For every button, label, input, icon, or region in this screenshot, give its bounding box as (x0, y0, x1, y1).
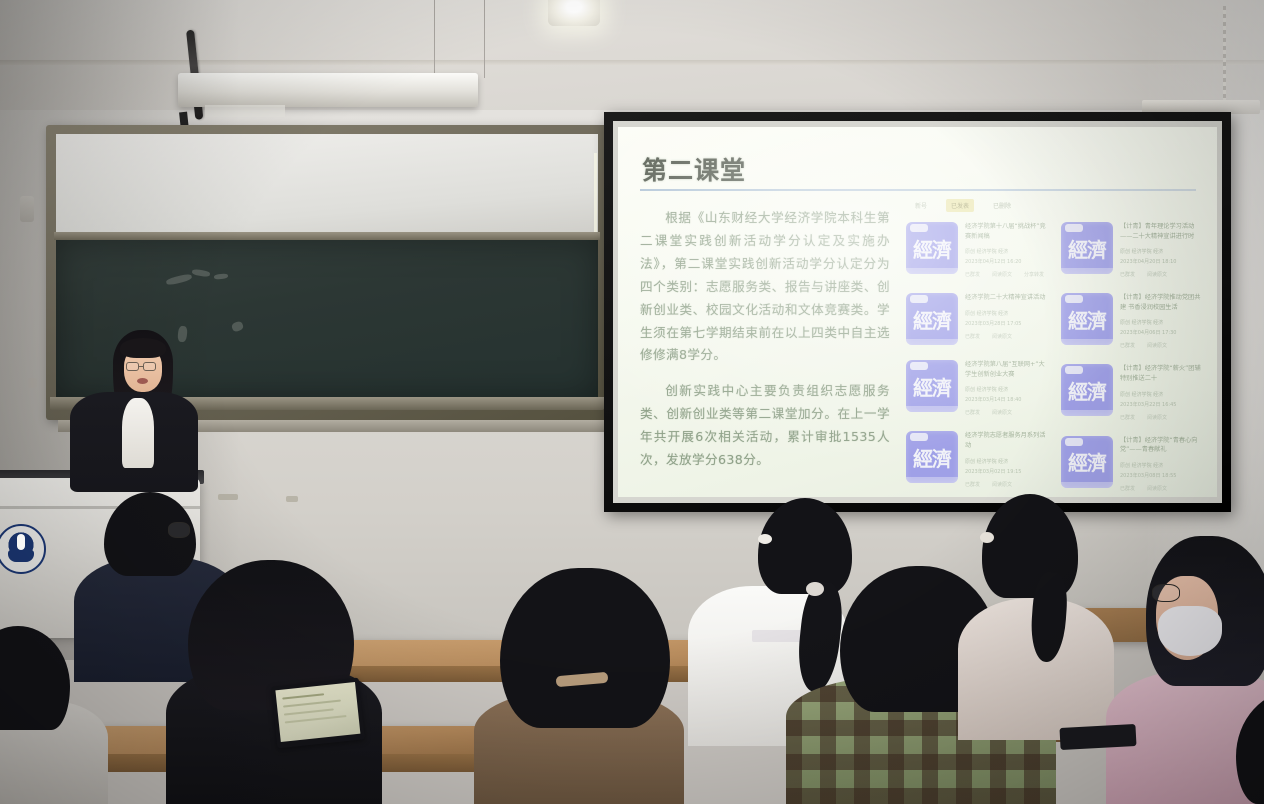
article-meta: 已群发 阅读原文 (1120, 342, 1202, 349)
glasses-icon (1152, 584, 1180, 602)
meta-read: 阅读原文 (992, 333, 1012, 340)
article-meta: 已群发 阅读原文 (1120, 271, 1202, 278)
article-date: 2023年03月28日 17:05 (965, 320, 1047, 328)
article-title: 经济学院二十大精神宣讲活动 (965, 293, 1047, 303)
article-column-right: 經濟 【计青】青年理论学习活动——二十大精神宣讲进行时 原创 经济学院 经济 2… (1061, 222, 1202, 497)
article-date: 2023年04月12日 16:20 (965, 258, 1047, 266)
list-item[interactable]: 經濟 【计青】经济学院“青春心向党”——青春献礼 原创 经济学院 经济 2023… (1061, 436, 1202, 492)
article-columns: 經濟 经济学院第十八届“挑战杯”竞赛新闻稿 原创 经济学院 经济 2023年04… (906, 222, 1202, 497)
meta-read: 阅读原文 (992, 271, 1012, 278)
meta-sent: 已群发 (965, 409, 980, 416)
article-date: 2023年04月20日 18:10 (1120, 258, 1202, 266)
meta-sent: 已群发 (1120, 414, 1135, 421)
article-author: 原创 经济学院 经济 (965, 310, 1047, 318)
tab-new[interactable]: 新号 (910, 199, 932, 212)
meta-sent: 已群发 (965, 481, 980, 488)
meta-read: 阅读原文 (1147, 342, 1167, 349)
meta-sent: 已群发 (1120, 271, 1135, 278)
article-column-left: 經濟 经济学院第十八届“挑战杯”竞赛新闻稿 原创 经济学院 经济 2023年04… (906, 222, 1047, 497)
article-author: 原创 经济学院 经济 (965, 458, 1047, 466)
article-date: 2023年04月06日 17:30 (1120, 329, 1202, 337)
meta-read: 阅读原文 (1147, 271, 1167, 278)
glasses-icon (168, 522, 190, 538)
article-author: 原创 经济学院 经济 (965, 248, 1047, 256)
meta-read: 阅读原文 (992, 409, 1012, 416)
journal-seal-icon: 經濟 (906, 293, 958, 345)
slide-paragraph-1: 根据《山东财经大学经济学院本科生第二课堂实践创新活动学分认定及实施办法》，第二课… (640, 207, 890, 367)
article-meta: 已群发 阅读原文 (965, 481, 1047, 488)
article-date: 2023年03月14日 18:40 (965, 396, 1047, 404)
slide-paragraph-2: 创新实践中心主要负责组织志愿服务类、创新创业类等第二课堂加分。在上一学年共开展6… (640, 380, 890, 472)
hair-tie-icon (980, 532, 994, 543)
ceiling-lamp (548, 0, 600, 26)
fixture-diffuser (205, 105, 285, 117)
journal-seal-icon: 經濟 (906, 360, 958, 412)
board-slide-rail (54, 232, 600, 240)
slide-title: 第二课堂 (642, 151, 746, 187)
device-on-desk[interactable] (1059, 724, 1136, 750)
presenter-bangs (120, 338, 166, 358)
article-meta: 已群发 阅读原文 (1120, 485, 1202, 492)
list-item[interactable]: 經濟 【计青】青年理论学习活动——二十大精神宣讲进行时 原创 经济学院 经济 2… (1061, 222, 1202, 278)
hair-tie-icon (806, 582, 824, 596)
list-item[interactable]: 經濟 经济学院第十八届“挑战杯”竞赛新闻稿 原创 经济学院 经济 2023年04… (906, 222, 1047, 278)
screen-chain (1223, 6, 1226, 104)
article-author: 原创 经济学院 经济 (965, 386, 1047, 394)
article-author: 原创 经济学院 经济 (1120, 248, 1202, 256)
article-title: 经济学院志愿者服务月系列活动 (965, 431, 1047, 450)
board-light-reflection (594, 153, 597, 233)
title-divider (640, 189, 1196, 191)
article-title: 【计青】经济学院“青春心向党”——青春献礼 (1120, 436, 1202, 455)
hoodie-print (752, 630, 806, 642)
article-title: 【计青】青年理论学习活动——二十大精神宣讲进行时 (1120, 222, 1202, 241)
article-meta: 已群发 阅读原文 (965, 409, 1047, 416)
article-title: 【计青】经济学院推动党团共建 书香浸润校园生活 (1120, 293, 1202, 312)
article-title: 经济学院第十八届“挑战杯”竞赛新闻稿 (965, 222, 1047, 241)
presenter-top (122, 398, 154, 468)
meta-share: 分享转发 (1024, 271, 1044, 278)
fluorescent-light-fixture (178, 73, 478, 107)
presenter-mouth (137, 378, 148, 384)
tab-published[interactable]: 已发表 (946, 199, 974, 212)
meta-sent: 已群发 (1120, 485, 1135, 492)
article-title: 经济学院第八届“互联网+”大学生创新创业大赛 (965, 360, 1047, 379)
meta-sent: 已群发 (1120, 342, 1135, 349)
meta-read: 阅读原文 (992, 481, 1012, 488)
journal-seal-icon: 經濟 (1061, 364, 1113, 416)
whiteboard-panel (56, 134, 598, 234)
list-item[interactable]: 經濟 【计青】经济学院推动党团共建 书香浸润校园生活 原创 经济学院 经济 20… (1061, 293, 1202, 349)
journal-seal-icon: 經濟 (1061, 436, 1113, 488)
article-meta: 已群发 阅读原文 (965, 333, 1047, 340)
list-item[interactable]: 經濟 经济学院第八届“互联网+”大学生创新创业大赛 原创 经济学院 经济 202… (906, 360, 1047, 416)
journal-seal-icon: 經濟 (1061, 293, 1113, 345)
hanging-wire-1 (484, 0, 485, 78)
projection-screen: 第二课堂 根据《山东财经大学经济学院本科生第二课堂实践创新活动学分认定及实施办法… (604, 112, 1231, 512)
wall-fixture-icon (20, 196, 34, 222)
presentation-slide: 第二课堂 根据《山东财经大学经济学院本科生第二课堂实践创新活动学分认定及实施办法… (618, 127, 1217, 497)
tablet-screen (275, 682, 360, 742)
meta-sent: 已群发 (965, 271, 980, 278)
list-item[interactable]: 經濟 经济学院二十大精神宣讲活动 原创 经济学院 经济 2023年03月28日 … (906, 293, 1047, 345)
meta-read: 阅读原文 (1147, 485, 1167, 492)
meta-sent: 已群发 (965, 333, 980, 340)
chalk-piece-icon (286, 496, 298, 502)
article-meta: 已群发 阅读原文 (1120, 414, 1202, 421)
tab-deleted[interactable]: 已删除 (988, 199, 1016, 212)
classroom-scene: 第二课堂 根据《山东财经大学经济学院本科生第二课堂实践创新活动学分认定及实施办法… (0, 0, 1264, 804)
journal-seal-icon: 經濟 (906, 222, 958, 274)
list-item[interactable]: 經濟 【计青】经济学院“薪火”团辅特别推送二十 原创 经济学院 经济 2023年… (1061, 364, 1202, 420)
article-date: 2023年03月02日 19:15 (965, 468, 1047, 476)
wechat-article-list-capture: 新号 已发表 已删除 經濟 经济学院第十八届“挑战杯”竞赛新闻稿 原创 经济学院… (906, 199, 1202, 491)
journal-seal-icon: 經濟 (1061, 222, 1113, 274)
article-date: 2023年03月22日 16:45 (1120, 401, 1202, 409)
article-meta: 已群发 阅读原文 分享转发 (965, 271, 1047, 278)
article-author: 原创 经济学院 经济 (1120, 319, 1202, 327)
article-author: 原创 经济学院 经济 (1120, 391, 1202, 399)
student-hair (500, 568, 670, 728)
slide-body-text: 根据《山东财经大学经济学院本科生第二课堂实践创新活动学分认定及实施办法》，第二课… (640, 207, 890, 485)
article-title: 【计青】经济学院“薪火”团辅特别推送二十 (1120, 364, 1202, 383)
meta-read: 阅读原文 (1147, 414, 1167, 421)
article-date: 2023年03月08日 18:55 (1120, 472, 1202, 480)
student-hair (0, 626, 70, 730)
hair-clip-icon (758, 534, 772, 544)
article-author: 原创 经济学院 经济 (1120, 462, 1202, 470)
university-crest-icon (0, 524, 46, 574)
list-item[interactable]: 經濟 经济学院志愿者服务月系列活动 原创 经济学院 经济 2023年03月02日… (906, 431, 1047, 487)
face-mask (1158, 606, 1222, 656)
tablet-device[interactable] (271, 678, 365, 749)
journal-seal-icon: 經濟 (906, 431, 958, 483)
wall-clip-icon (28, 378, 37, 388)
eraser-icon (218, 494, 238, 500)
article-tab-bar: 新号 已发表 已删除 (906, 199, 1202, 212)
